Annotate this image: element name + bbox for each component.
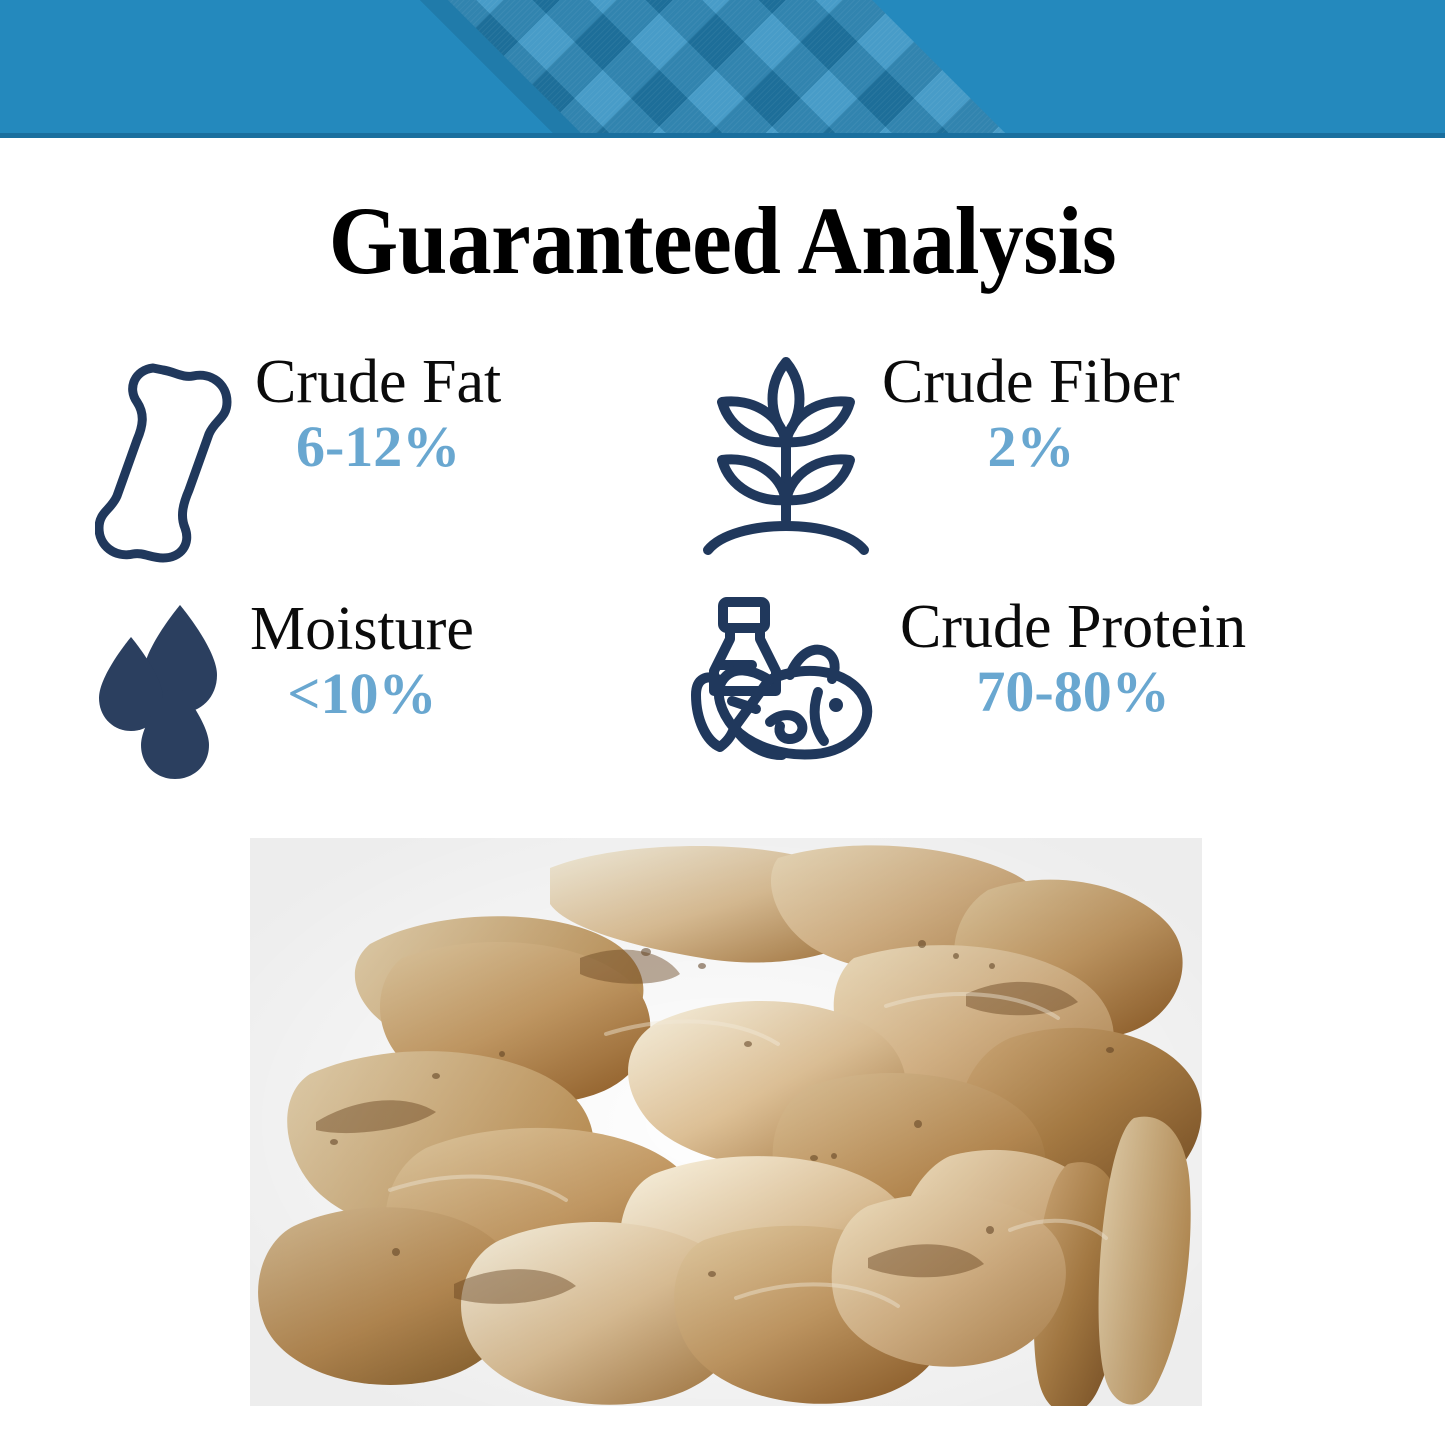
- stat-moisture-text: Moisture <10%: [250, 597, 474, 727]
- page-title: Guaranteed Analysis: [51, 193, 1395, 289]
- bone-icon: [95, 350, 245, 570]
- guaranteed-analysis-stats: Crude Fat 6-12%: [0, 345, 1445, 805]
- stat-crude-fat-text: Crude Fat 6-12%: [255, 350, 501, 480]
- stat-value: 2%: [882, 415, 1180, 480]
- header-plaid-banner: [0, 0, 1445, 138]
- product-infographic-page: Guaranteed Analysis Crude Fat 6-12%: [0, 0, 1445, 1445]
- water-droplets-icon: [95, 597, 240, 787]
- stat-crude-protein: Crude Protein 70-80%: [690, 595, 1246, 778]
- stat-value: <10%: [250, 662, 474, 727]
- stat-value: 6-12%: [255, 415, 501, 480]
- stat-moisture: Moisture <10%: [95, 597, 474, 787]
- fish-oil-bottle-icon: [690, 595, 890, 778]
- product-photo: [250, 838, 1202, 1406]
- header-underline: [0, 133, 1445, 138]
- stat-crude-protein-text: Crude Protein 70-80%: [900, 595, 1246, 725]
- stat-crude-fiber: Crude Fiber 2%: [700, 350, 1180, 560]
- stat-label: Crude Fiber: [882, 350, 1180, 415]
- stat-label: Crude Fat: [255, 350, 501, 415]
- stat-value: 70-80%: [900, 660, 1246, 725]
- stat-crude-fiber-text: Crude Fiber 2%: [882, 350, 1180, 480]
- plaid-pattern: [51, 0, 1409, 138]
- stat-crude-fat: Crude Fat 6-12%: [95, 350, 501, 570]
- stat-label: Crude Protein: [900, 595, 1246, 660]
- plaid-thread-texture: [51, 0, 1409, 138]
- stat-label: Moisture: [250, 597, 474, 662]
- wheat-plant-icon: [700, 350, 872, 560]
